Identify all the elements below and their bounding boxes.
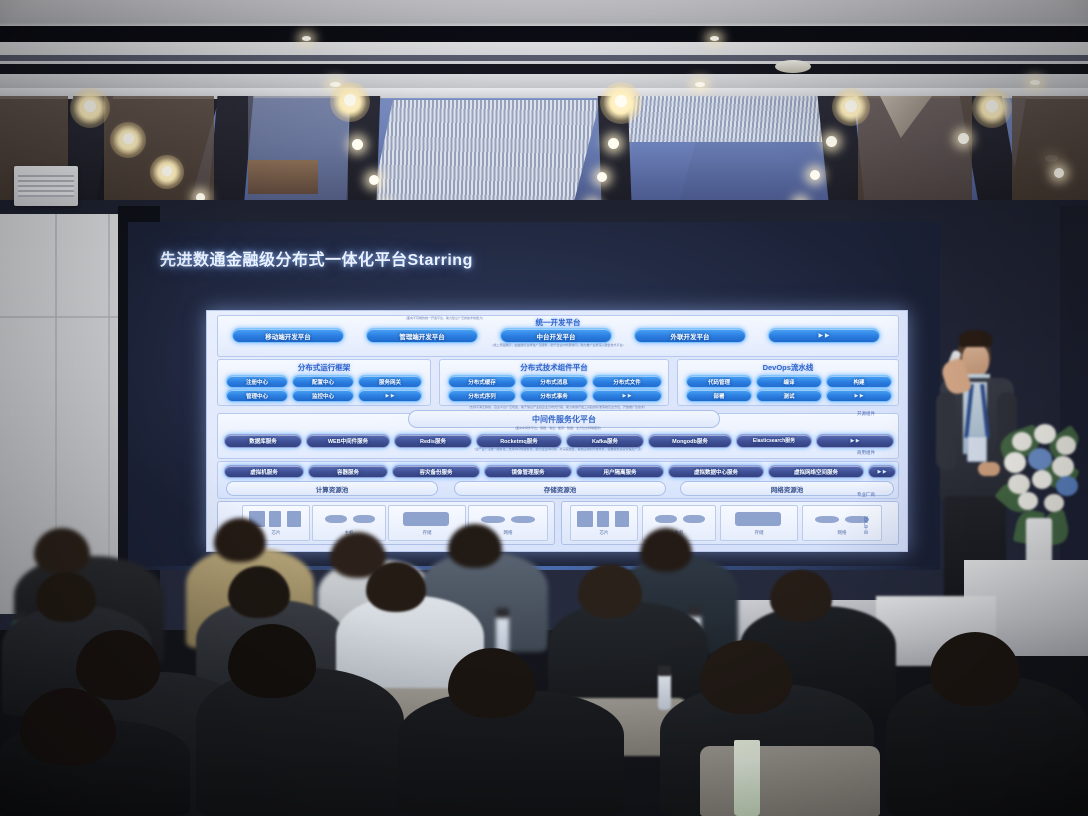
- ceiling-band-2: [0, 74, 1088, 88]
- spotlight: [84, 100, 96, 112]
- pill-web-middleware-service[interactable]: WEB中间件服务: [306, 434, 390, 448]
- ceiling-downlight: [302, 36, 311, 41]
- spotlight: [344, 94, 356, 106]
- ceiling-wood-accent: [248, 160, 318, 194]
- pill-vm-service[interactable]: 虚拟机服务: [224, 465, 304, 478]
- spotlight: [810, 170, 820, 180]
- middleware-side-bottom-label: 商用组件: [857, 450, 875, 456]
- pill-midplatform-dev[interactable]: 中台开发平台: [500, 328, 612, 343]
- section-heading: DevOps流水线: [678, 362, 898, 373]
- pill-more-devops[interactable]: ▶ ▶: [826, 389, 892, 402]
- ceiling-downlight: [1030, 80, 1040, 85]
- pill-more-middleware[interactable]: ▶ ▶: [816, 434, 894, 448]
- pill-mobile-dev[interactable]: 移动端开发平台: [232, 328, 344, 343]
- pill-compile[interactable]: 编译: [756, 375, 822, 388]
- pill-user-isolation-service[interactable]: 用户隔离服务: [576, 465, 664, 478]
- spotlight: [369, 175, 379, 185]
- spotlight: [352, 139, 363, 150]
- conference-photo: 先进数通金融级分布式一体化平台Starring 统一开发平台 (面向不同端的统一…: [0, 0, 1088, 816]
- pill-dist-message[interactable]: 分布式消息: [520, 375, 588, 388]
- hw-caption: 存储: [721, 530, 797, 536]
- virtualization-side-label: 专业厂商: [857, 492, 875, 498]
- section-virtualization: 虚拟机服务 容器服务 容灾备份服务 镜像管理服务 用户隔离服务 虚拟数据中心服务…: [217, 461, 899, 499]
- vent-slats: [18, 175, 74, 197]
- ceiling-wood-panel: [1012, 96, 1088, 214]
- section-middleware: 中间件服务化平台 (面向中间件平台，容器、消息、缓存、数据、全方位支持等服务) …: [217, 413, 899, 459]
- badge: [967, 436, 987, 462]
- hardware-group-left: 芯片 主机 存储 网络: [217, 501, 555, 545]
- section-heading: 分布式运行框架: [218, 362, 430, 373]
- section-devops: DevOps流水线 代码管理 编译 构建 部署 测试 ▶ ▶: [677, 359, 899, 406]
- pill-virtual-network-service[interactable]: 虚拟网络空间服务: [768, 465, 864, 478]
- pill-manage-center[interactable]: 管理中心: [226, 389, 288, 402]
- air-vent: [14, 166, 78, 206]
- pool-storage: 存储资源池: [454, 481, 666, 496]
- pill-elasticsearch-service[interactable]: Elasticsearch服务: [736, 434, 812, 448]
- pill-dist-sequence[interactable]: 分布式序列: [448, 389, 516, 402]
- slide-body: 统一开发平台 (面向不同端的统一开发平台，助力建立广泛的技术栈能力) 移动端开发…: [206, 310, 908, 552]
- spotlight: [958, 133, 969, 144]
- spotlight: [615, 95, 627, 107]
- presenter-hand-right: [978, 462, 1000, 476]
- hw-caption: 网络: [803, 530, 881, 536]
- ceiling-recess-strip-1: [0, 26, 1088, 42]
- hardware-group-right: 芯片 主机 存储 网络: [561, 501, 899, 545]
- spotlight: [608, 138, 619, 149]
- pill-kafka-service[interactable]: Kafka服务: [566, 434, 644, 448]
- presenter-hair-top: [959, 330, 992, 347]
- spotlight: [845, 100, 857, 112]
- section-unified-dev: 统一开发平台 (面向不同端的统一开发平台，助力建立广泛的技术栈能力) 移动端开发…: [217, 315, 899, 357]
- pill-monitor-center[interactable]: 监控中心: [292, 389, 354, 402]
- pill-more-unified[interactable]: ▶ ▶: [768, 328, 880, 343]
- spotlight: [986, 100, 998, 112]
- pill-rocketmq-service[interactable]: Rocketmq服务: [476, 434, 562, 448]
- pill-image-mgmt-service[interactable]: 镜像管理服务: [484, 465, 572, 478]
- pill-admin-dev[interactable]: 管理端开发平台: [366, 328, 478, 343]
- presenter-arm-left: [936, 392, 956, 470]
- spotlight: [1054, 168, 1064, 178]
- hw-cell-chip: 芯片: [570, 505, 638, 541]
- section-heading: 分布式技术组件平台: [440, 362, 668, 373]
- section-tech-components: 分布式技术组件平台 分布式缓存 分布式消息 分布式文件 分布式序列 分布式事务 …: [439, 359, 669, 406]
- ceiling-downlight: [695, 82, 705, 87]
- slide-title: 先进数通金融级分布式一体化平台Starring: [160, 246, 473, 270]
- wall-seam: [108, 214, 110, 614]
- hardware-side-label: 国产平台: [863, 516, 869, 534]
- ceiling-downlight: [710, 36, 719, 41]
- pill-container-service[interactable]: 容器服务: [308, 465, 388, 478]
- spotlight: [162, 166, 172, 176]
- hw-cell-storage: 存储: [720, 505, 798, 541]
- pill-dist-cache[interactable]: 分布式缓存: [448, 375, 516, 388]
- hw-cell-network: 网络: [802, 505, 882, 541]
- middleware-footnote: (全产业广泛统一服务化，支持中间件服务化，助力企业中间件厂商深度融合，提供应用的…: [218, 448, 898, 451]
- section-runtime-framework: 分布式运行框架 注册中心 配置中心 服务网关 管理中心 监控中心 ▶ ▶: [217, 359, 431, 406]
- pill-test[interactable]: 测试: [756, 389, 822, 402]
- runtime-footnote: (支持平滑迁移的，自主平台广泛增加，助于信息产业链企业分布式升级，助力成熟开发工…: [207, 406, 907, 409]
- pill-deploy[interactable]: 部署: [686, 389, 752, 402]
- section-footnote: (线上界面展示，由金融行业特性广泛服务，助于企业内外部协同，助力推广业务深入融合…: [218, 344, 898, 347]
- middleware-side-top-label: 开源组件: [857, 411, 875, 417]
- pill-virtual-datacenter-service[interactable]: 虚拟数据中心服务: [668, 465, 764, 478]
- pill-build[interactable]: 构建: [826, 375, 892, 388]
- pill-dist-file[interactable]: 分布式文件: [592, 375, 662, 388]
- spotlight: [826, 136, 837, 147]
- section-note: (面向不同端的统一开发平台，助力建立广泛的技术栈能力): [406, 317, 726, 320]
- hw-caption: 芯片: [571, 530, 637, 536]
- ceiling-recess-strip-2: [0, 64, 1088, 74]
- spotlight: [597, 172, 607, 182]
- pill-more-techcomp[interactable]: ▶ ▶: [592, 389, 662, 402]
- smoke-detector-icon: [775, 60, 811, 73]
- ceiling-louver-left: [370, 100, 600, 208]
- middleware-note: (面向中间件平台，容器、消息、缓存、数据、全方位支持等服务): [218, 427, 898, 430]
- pill-registry-center[interactable]: 注册中心: [226, 375, 288, 388]
- pill-more-runtime[interactable]: ▶ ▶: [358, 389, 422, 402]
- pill-mongodb-service[interactable]: Mongodb服务: [648, 434, 732, 448]
- pill-dr-backup-service[interactable]: 容灾备份服务: [392, 465, 480, 478]
- pill-service-gateway[interactable]: 服务网关: [358, 375, 422, 388]
- pill-more-virtualization[interactable]: ▶ ▶: [868, 465, 896, 478]
- presentation-screen: 先进数通金融级分布式一体化平台Starring 统一开发平台 (面向不同端的统一…: [128, 222, 940, 570]
- pill-dist-transaction[interactable]: 分布式事务: [520, 389, 588, 402]
- pill-external-dev[interactable]: 外联开发平台: [634, 328, 746, 343]
- pill-config-center[interactable]: 配置中心: [292, 375, 354, 388]
- ceiling-louver-right: [620, 96, 850, 142]
- wall-seam: [0, 316, 118, 318]
- pill-redis-service[interactable]: Redis服务: [394, 434, 472, 448]
- pill-code-management[interactable]: 代码管理: [686, 375, 752, 388]
- ceiling-seam: [0, 55, 1088, 61]
- pool-compute: 计算资源池: [226, 481, 438, 496]
- pill-database-service[interactable]: 数据库服务: [224, 434, 302, 448]
- spotlight: [123, 133, 134, 144]
